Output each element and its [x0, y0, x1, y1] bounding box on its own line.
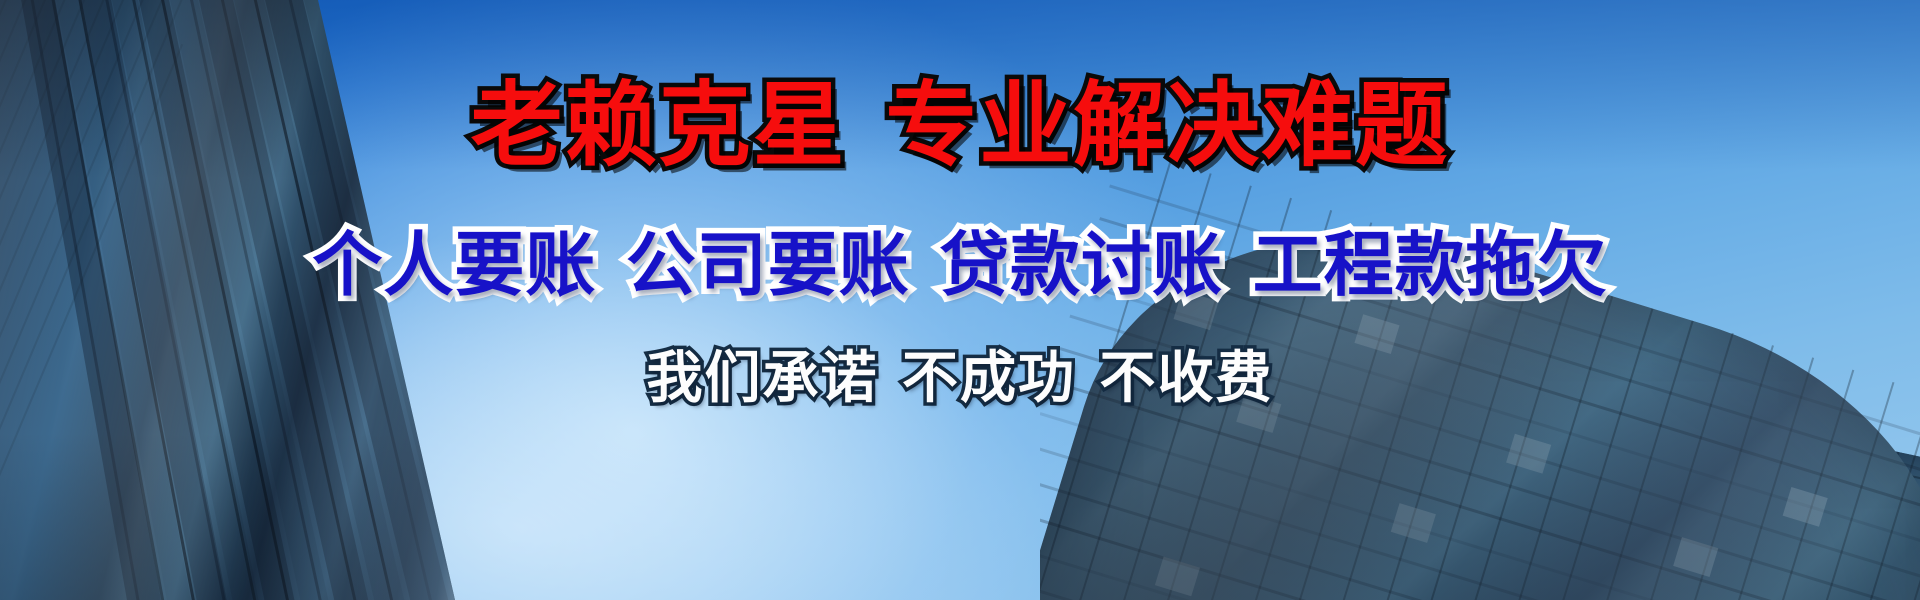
service-item-company-debt: 公司要账 — [626, 226, 910, 304]
banner-services-line: 个人要账公司要账贷款讨账工程款拖欠 — [0, 228, 1920, 302]
headline-segment-1: 老赖克星 — [471, 75, 847, 177]
service-item-project-arrears: 工程款拖欠 — [1253, 226, 1608, 304]
promise-segment-2: 不成功 — [902, 346, 1076, 409]
banner-headline: 老赖克星专业解决难题 — [0, 78, 1920, 174]
headline-segment-2: 专业解决难题 — [885, 75, 1449, 177]
service-item-personal-debt: 个人要账 — [312, 226, 596, 304]
promo-banner: 老赖克星专业解决难题 个人要账公司要账贷款讨账工程款拖欠 我们承诺不成功不收费 — [0, 0, 1920, 600]
banner-text-layer: 老赖克星专业解决难题 个人要账公司要账贷款讨账工程款拖欠 我们承诺不成功不收费 — [0, 0, 1920, 600]
promise-segment-3: 不收费 — [1100, 346, 1274, 409]
promise-segment-1: 我们承诺 — [646, 346, 878, 409]
service-item-loan-collection: 贷款讨账 — [939, 226, 1223, 304]
banner-promise-line: 我们承诺不成功不收费 — [0, 348, 1920, 408]
